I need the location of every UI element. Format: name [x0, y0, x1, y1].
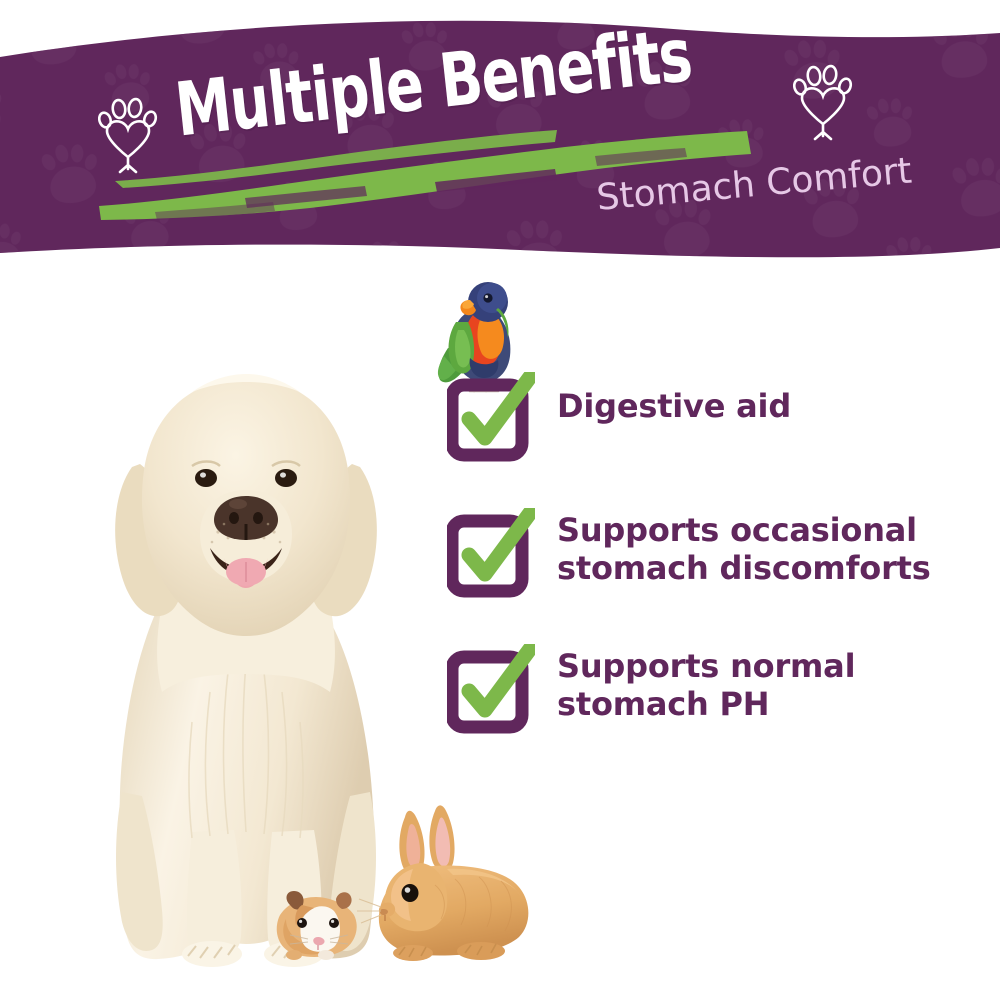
checkbox-checked-icon[interactable] [447, 644, 535, 736]
benefit-label: Supports normal stomach PH [557, 644, 855, 724]
header-banner [0, 0, 1000, 275]
banner-shape [0, 0, 1000, 275]
benefits-list: Digestive aid Supports occasional stomac… [447, 372, 967, 736]
benefit-label: Supports occasional stomach discomforts [557, 508, 931, 588]
benefit-item-digestive-aid[interactable]: Digestive aid [447, 372, 967, 464]
infographic-canvas: Multiple Benefits Stomach Comfort [0, 0, 1000, 1000]
checkbox-checked-icon[interactable] [447, 372, 535, 464]
rabbit-photo [355, 805, 540, 965]
benefit-item-normal-stomach-ph[interactable]: Supports normal stomach PH [447, 644, 967, 736]
benefit-item-occasional-stomach-discomforts[interactable]: Supports occasional stomach discomforts [447, 508, 967, 600]
benefit-label: Digestive aid [557, 372, 791, 426]
checkbox-checked-icon[interactable] [447, 508, 535, 600]
